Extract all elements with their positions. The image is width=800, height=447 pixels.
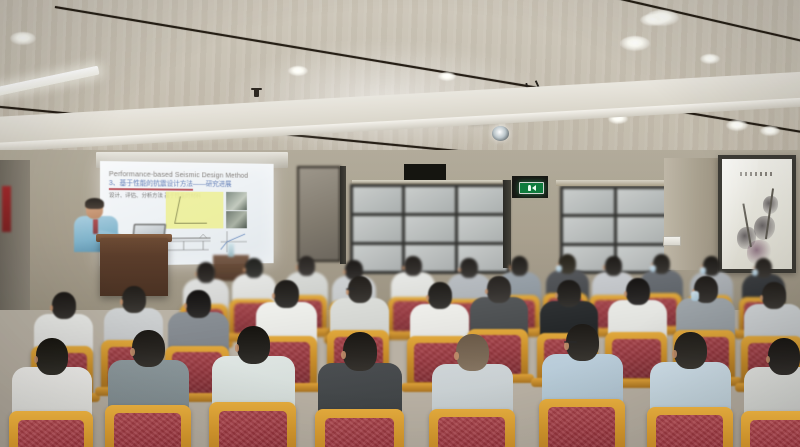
red-banner bbox=[2, 186, 11, 232]
person-ear bbox=[672, 350, 676, 358]
conference-chair bbox=[647, 407, 733, 447]
downlight-10 bbox=[760, 126, 780, 136]
slide-photo-bottom bbox=[226, 211, 247, 228]
chair-cushion bbox=[656, 415, 723, 447]
person-head bbox=[237, 326, 271, 364]
person-head bbox=[36, 338, 68, 375]
window-pane bbox=[353, 216, 402, 242]
conference-chair bbox=[9, 411, 93, 447]
person-ear bbox=[130, 348, 134, 356]
conference-chair bbox=[741, 411, 800, 447]
lecture-hall-photo: Performance-based Seismic Design Method … bbox=[0, 0, 800, 447]
eyeglasses bbox=[564, 341, 577, 343]
chair-cushion bbox=[325, 418, 394, 447]
exit-sign bbox=[519, 182, 544, 194]
downlight-1 bbox=[10, 32, 36, 45]
window-pane bbox=[617, 217, 668, 242]
slide-photo-top bbox=[226, 192, 247, 210]
person-ear bbox=[564, 342, 568, 350]
chair-cushion bbox=[18, 420, 84, 447]
conference-chair bbox=[315, 409, 404, 447]
chair-cushion bbox=[219, 411, 287, 447]
window-pane bbox=[563, 189, 614, 214]
downlight-9 bbox=[726, 120, 748, 131]
chair-cushion bbox=[548, 407, 615, 447]
downlight-4 bbox=[620, 36, 650, 51]
light-switch-panel[interactable] bbox=[663, 236, 681, 246]
downlight-6 bbox=[640, 14, 666, 26]
slide-highlight-diagram bbox=[166, 191, 224, 228]
person-head bbox=[768, 338, 800, 375]
person-head bbox=[456, 334, 489, 371]
person-head bbox=[343, 332, 377, 371]
slide-divider bbox=[109, 188, 193, 191]
audience-area bbox=[0, 246, 800, 447]
window-pane bbox=[563, 217, 614, 242]
conference-chair bbox=[105, 405, 191, 447]
chair-cushion bbox=[114, 413, 181, 447]
window-pane bbox=[458, 216, 507, 242]
downlight-7 bbox=[438, 72, 456, 81]
window-pane bbox=[353, 187, 402, 213]
conference-chair bbox=[539, 399, 625, 447]
speaker-lanyard bbox=[93, 219, 98, 234]
conference-chair bbox=[209, 402, 296, 447]
window-pane bbox=[405, 216, 454, 242]
window-pane bbox=[458, 187, 507, 213]
chair-cushion bbox=[438, 417, 505, 447]
audience-row-front bbox=[0, 246, 800, 447]
downlight-8 bbox=[700, 54, 720, 64]
person-ear bbox=[235, 344, 239, 352]
person-head bbox=[674, 332, 707, 369]
person-ear bbox=[454, 352, 458, 360]
person-ear bbox=[341, 351, 346, 359]
chair-cushion bbox=[750, 420, 800, 447]
window-pane bbox=[405, 187, 454, 213]
conference-chair bbox=[429, 409, 515, 447]
sprinkler-head bbox=[254, 88, 259, 97]
running-man-icon bbox=[528, 185, 531, 191]
window-pane bbox=[617, 189, 668, 214]
downlight-3 bbox=[288, 66, 308, 76]
speaker-hair bbox=[85, 198, 104, 209]
arrow-right-icon bbox=[532, 185, 536, 191]
partition-top-strip-right bbox=[556, 180, 668, 186]
projector-lens bbox=[492, 126, 509, 141]
person-head bbox=[132, 330, 165, 367]
